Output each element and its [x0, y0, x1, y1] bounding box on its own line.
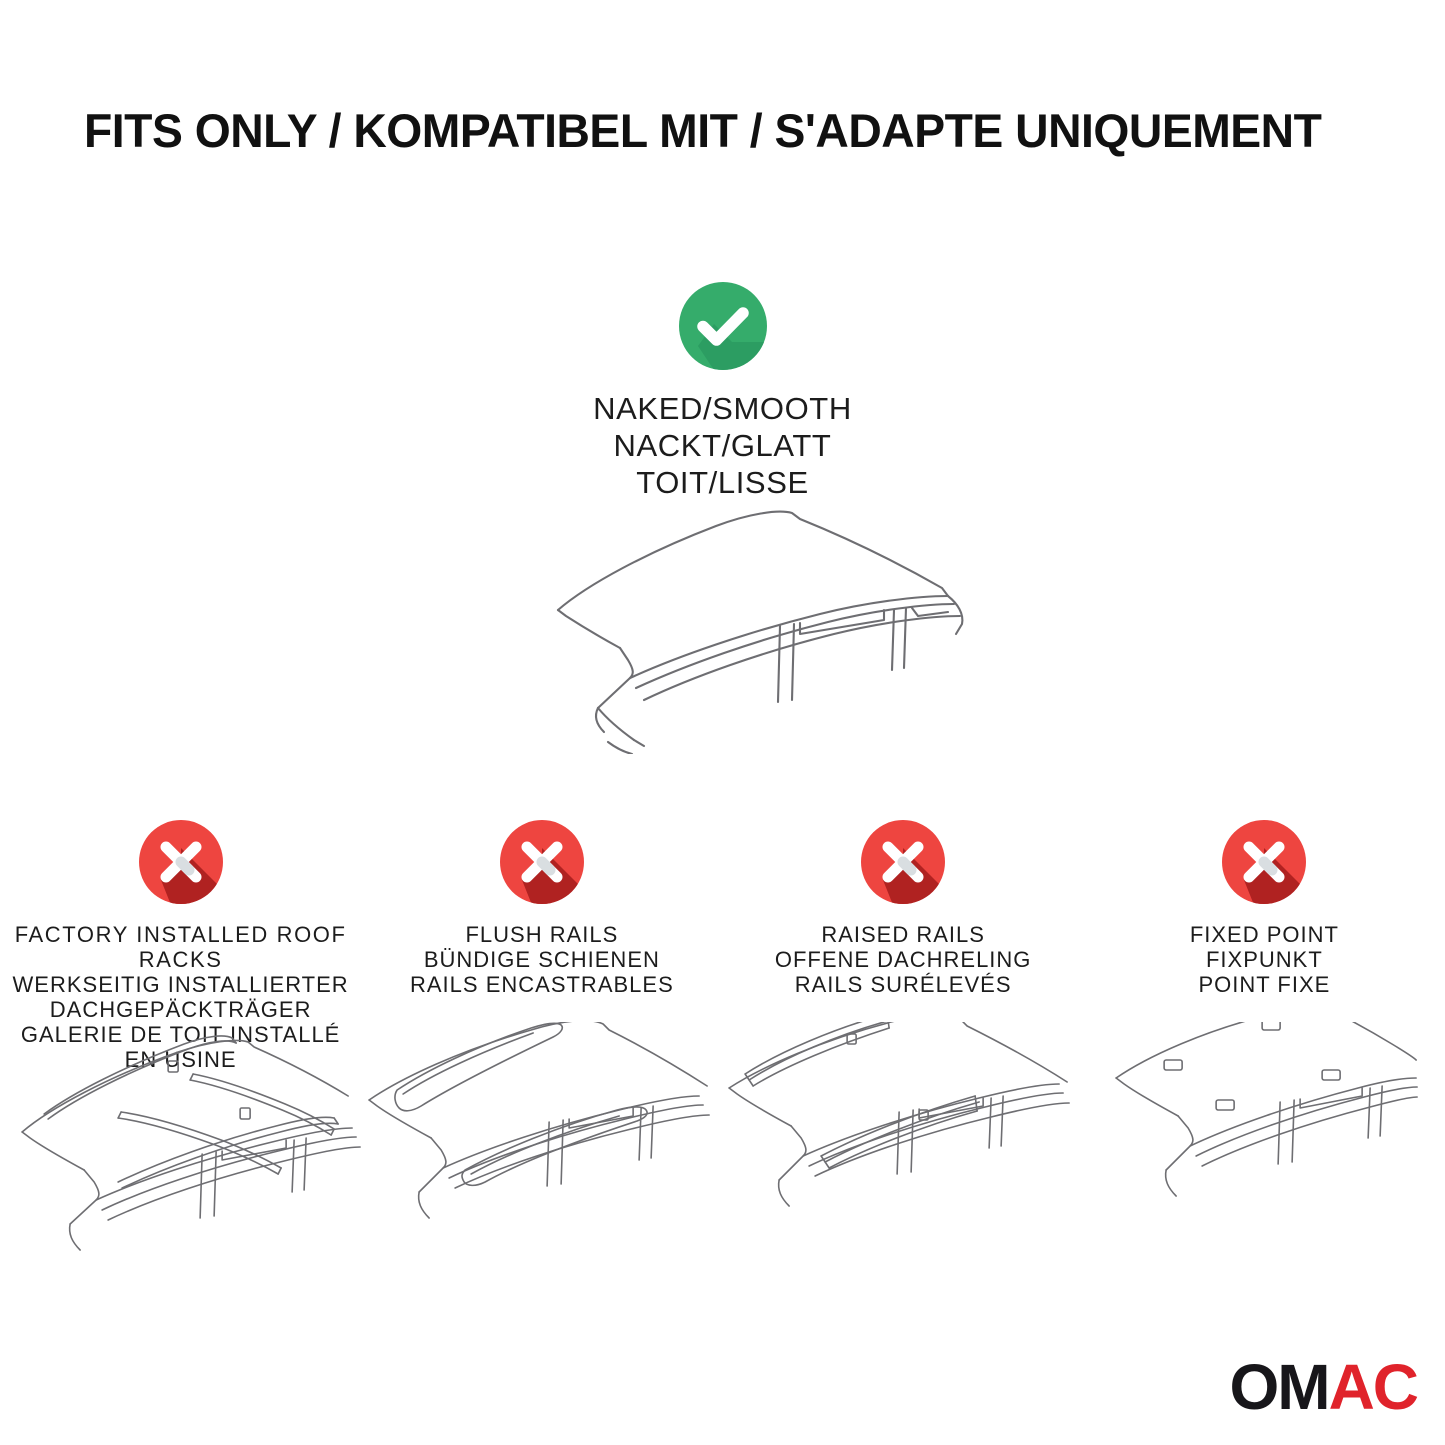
incompatible-labels: RAISED RAILS OFFENE DACHRELING RAILS SUR…	[723, 922, 1084, 997]
incompatible-label-de1: WERKSEITIG INSTALLIERTER	[6, 972, 355, 997]
compatible-section: NAKED/SMOOTH NACKT/GLATT TOIT/LISSE	[0, 280, 1445, 501]
cross-circle-icon	[498, 818, 586, 906]
incompatible-labels: FLUSH RAILS BÜNDIGE SCHIENEN RAILS ENCAS…	[361, 922, 722, 997]
logo-text-red: AC	[1329, 1351, 1417, 1423]
incompatible-column-raised-rails: RAISED RAILS OFFENE DACHRELING RAILS SUR…	[723, 818, 1084, 997]
incompatible-labels: FIXED POINT FIXPUNKT POINT FIXE	[1084, 922, 1445, 997]
cross-circle-icon	[137, 818, 225, 906]
car-roof-fixed-point-illustration	[1084, 1022, 1445, 1252]
compatible-label-en: NAKED/SMOOTH	[0, 390, 1445, 427]
incompatible-label-de1: FIXPUNKT	[1090, 947, 1439, 972]
car-roof-naked-smooth-illustration	[448, 492, 1004, 754]
car-roof-factory-rack-illustration	[0, 1022, 361, 1252]
incompatible-label-de2: DACHGEPÄCKTRÄGER	[6, 997, 355, 1022]
incompatible-label-de1: OFFENE DACHRELING	[729, 947, 1078, 972]
incompatible-column-fixed-point: FIXED POINT FIXPUNKT POINT FIXE	[1084, 818, 1445, 997]
compatible-label-de: NACKT/GLATT	[0, 427, 1445, 464]
incompatible-label-de1: BÜNDIGE SCHIENEN	[367, 947, 716, 972]
incompatible-label-en: FACTORY INSTALLED ROOF RACKS	[6, 922, 355, 972]
incompatible-label-fr: POINT FIXE	[1090, 972, 1439, 997]
incompatible-column-flush-rails: FLUSH RAILS BÜNDIGE SCHIENEN RAILS ENCAS…	[361, 818, 722, 997]
incompatible-label-en: FLUSH RAILS	[367, 922, 716, 947]
cross-circle-icon	[859, 818, 947, 906]
car-roof-flush-rails-illustration	[361, 1022, 722, 1252]
compatible-labels: NAKED/SMOOTH NACKT/GLATT TOIT/LISSE	[0, 390, 1445, 501]
logo-text-dark: OM	[1229, 1351, 1328, 1423]
omac-logo: OMAC	[1229, 1355, 1417, 1419]
incompatible-label-en: FIXED POINT	[1090, 922, 1439, 947]
car-roof-raised-rails-illustration	[723, 1022, 1084, 1252]
incompatible-label-en: RAISED RAILS	[729, 922, 1078, 947]
check-circle-icon	[677, 280, 769, 372]
incompatible-label-fr: RAILS ENCASTRABLES	[367, 972, 716, 997]
incompatible-illustrations-row	[0, 1022, 1445, 1252]
incompatible-label-fr: RAILS SURÉLEVÉS	[729, 972, 1078, 997]
page-title: FITS ONLY / KOMPATIBEL MIT / S'ADAPTE UN…	[84, 104, 1355, 158]
cross-circle-icon	[1220, 818, 1308, 906]
